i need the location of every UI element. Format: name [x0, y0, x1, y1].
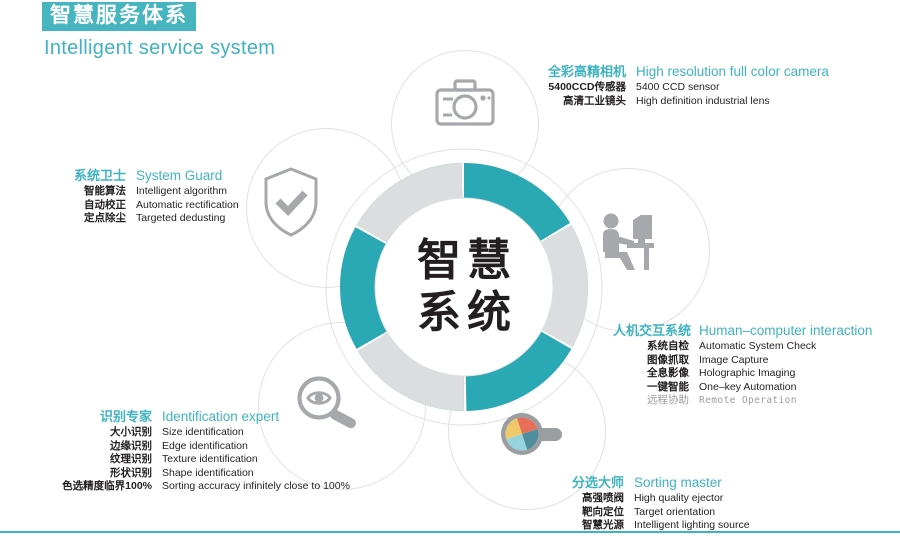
interaction-row-cn: 远程协助: [613, 394, 689, 408]
text-block-system-guard: 系统卫士 System Guard 智能算法 Intelligent algor…: [64, 167, 239, 226]
camera-heading-cn: 全彩高精相机: [548, 63, 626, 81]
guard-row-cn: 定点除尘: [64, 212, 126, 226]
interaction-row: 系统自检 Automatic System Check: [613, 340, 872, 354]
camera-row-en: 5400 CCD sensor: [636, 81, 719, 95]
interaction-row-cn: 一键智能: [613, 381, 689, 395]
page-title-cn: 智慧服务体系: [42, 2, 196, 31]
magnifier-color-wheel-icon-svg: [496, 407, 566, 465]
guard-row-en: Targeted dedusting: [136, 212, 225, 226]
guard-row-cn: 智能算法: [64, 185, 126, 199]
guard-row-en: Intelligent algorithm: [136, 185, 227, 199]
sorting-row-cn: 靶向定位: [562, 506, 624, 520]
text-block-camera: 全彩高精相机 High resolution full color camera…: [548, 63, 829, 108]
interaction-heading-row: 人机交互系统 Human–computer interaction: [613, 322, 872, 340]
interaction-row-cn: 系统自检: [613, 340, 689, 354]
identification-row: 形状识别 Shape identification: [42, 467, 350, 481]
page-header: 智慧服务体系 Intelligent service system: [42, 2, 275, 60]
sorting-heading-cn: 分选大师: [562, 474, 624, 492]
interaction-row: 图像抓取 Image Capture: [613, 354, 872, 368]
identification-row: 大小识别 Size identification: [42, 426, 350, 440]
camera-row-cn: 5400CCD传感器: [548, 81, 626, 95]
camera-row-cn: 高清工业镜头: [548, 95, 626, 109]
identification-row-en: Texture identification: [162, 453, 258, 467]
identification-row-en: Sorting accuracy infinitely close to 100…: [162, 480, 350, 494]
bottom-divider: [0, 531, 900, 533]
identification-row: 色选精度临界100% Sorting accuracy infinitely c…: [42, 480, 350, 494]
identification-row-en: Size identification: [162, 426, 244, 440]
text-block-sorting: 分选大师 Sorting master 高强喷阀 High quality ej…: [562, 474, 750, 533]
interaction-row: 全息影像 Holographic Imaging: [613, 367, 872, 381]
identification-heading-en: Identification expert: [162, 408, 279, 426]
interaction-heading-en: Human–computer interaction: [699, 322, 872, 340]
interaction-row: 远程协助 Remote Operation: [613, 394, 872, 408]
guard-row: 智能算法 Intelligent algorithm: [64, 185, 239, 199]
camera-row-en: High definition industrial lens: [636, 95, 770, 109]
identification-row-cn: 边缘识别: [42, 440, 152, 454]
interaction-heading-cn: 人机交互系统: [613, 322, 689, 340]
guard-row-cn: 自动校正: [64, 199, 126, 213]
donut-svg: [325, 148, 603, 426]
identification-row-cn: 纹理识别: [42, 453, 152, 467]
sorting-row-cn: 高强喷阀: [562, 492, 624, 506]
interaction-row-en: Remote Operation: [699, 394, 797, 408]
sorting-row: 高强喷阀 High quality ejector: [562, 492, 750, 506]
camera-heading-en: High resolution full color camera: [636, 63, 829, 81]
sorting-row-en: Target orientation: [634, 506, 715, 520]
identification-row-en: Shape identification: [162, 467, 254, 481]
interaction-row: 一键智能 One–key Automation: [613, 381, 872, 395]
infographic-page: 智慧服务体系 Intelligent service system 智慧 系统: [0, 0, 900, 540]
shield-check-icon-svg: [262, 166, 320, 238]
interaction-row-en: Automatic System Check: [699, 340, 816, 354]
interaction-row-en: One–key Automation: [699, 381, 796, 395]
guard-row-en: Automatic rectification: [136, 199, 239, 213]
text-block-identification: 识别专家 Identification expert 大小识别 Size ide…: [42, 408, 350, 494]
identification-row-en: Edge identification: [162, 440, 248, 454]
identification-row: 边缘识别 Edge identification: [42, 440, 350, 454]
identification-row-cn: 形状识别: [42, 467, 152, 481]
identification-row: 纹理识别 Texture identification: [42, 453, 350, 467]
interaction-row-cn: 全息影像: [613, 367, 689, 381]
camera-row: 高清工业镜头 High definition industrial lens: [548, 95, 829, 109]
camera-icon: [433, 78, 497, 130]
interaction-row-en: Holographic Imaging: [699, 367, 795, 381]
guard-row: 定点除尘 Targeted dedusting: [64, 212, 239, 226]
sorting-row: 靶向定位 Target orientation: [562, 506, 750, 520]
interaction-row-cn: 图像抓取: [613, 354, 689, 368]
identification-heading-cn: 识别专家: [42, 408, 152, 426]
camera-row: 5400CCD传感器 5400 CCD sensor: [548, 81, 829, 95]
camera-icon-svg: [433, 78, 497, 130]
camera-heading-row: 全彩高精相机 High resolution full color camera: [548, 63, 829, 81]
identification-row-cn: 色选精度临界100%: [42, 480, 152, 494]
guard-heading-row: 系统卫士 System Guard: [64, 167, 239, 185]
text-block-interaction: 人机交互系统 Human–computer interaction 系统自检 A…: [613, 322, 872, 408]
sorting-row-en: High quality ejector: [634, 492, 723, 506]
donut-hole: [375, 198, 553, 376]
center-donut-chart: 智慧 系统: [325, 148, 603, 426]
interaction-row-en: Image Capture: [699, 354, 768, 368]
person-at-desk-icon: [597, 212, 659, 274]
identification-heading-row: 识别专家 Identification expert: [42, 408, 350, 426]
person-at-desk-icon-svg: [597, 212, 659, 274]
sorting-heading-en: Sorting master: [634, 474, 722, 492]
identification-row-cn: 大小识别: [42, 426, 152, 440]
page-title-en: Intelligent service system: [44, 37, 275, 60]
guard-heading-cn: 系统卫士: [64, 167, 126, 185]
sorting-heading-row: 分选大师 Sorting master: [562, 474, 750, 492]
donut-segments: [358, 181, 571, 394]
shield-check-icon: [262, 166, 320, 238]
guard-heading-en: System Guard: [136, 167, 222, 185]
magnifier-color-wheel-icon: [496, 407, 566, 465]
guard-row: 自动校正 Automatic rectification: [64, 199, 239, 213]
